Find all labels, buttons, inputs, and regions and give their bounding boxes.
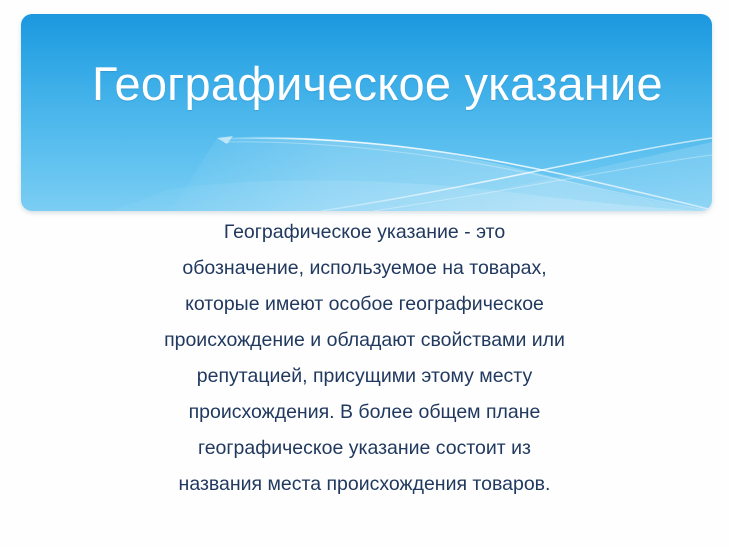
body-line: Географическое указание - это xyxy=(0,214,729,250)
body-line: происхождения. В более общем плане xyxy=(0,394,729,430)
swoosh-decoration-icon xyxy=(21,14,712,211)
title-banner: Географическое указание xyxy=(21,14,712,211)
body-line: названия места происхождения товаров. xyxy=(0,466,729,502)
body-line: географическое указание состоит из xyxy=(0,430,729,466)
body-line: происхождение и обладают свойствами или xyxy=(0,322,729,358)
slide-canvas: Географическое указание Географическое у… xyxy=(0,0,729,547)
body-line: которые имеют особое географическое xyxy=(0,286,729,322)
body-line: обозначение, используемое на товарах, xyxy=(0,250,729,286)
body-paragraph: Географическое указание - это обозначени… xyxy=(0,214,729,502)
slide-title: Географическое указание xyxy=(92,56,663,112)
body-line: репутацией, присущими этому месту xyxy=(0,358,729,394)
